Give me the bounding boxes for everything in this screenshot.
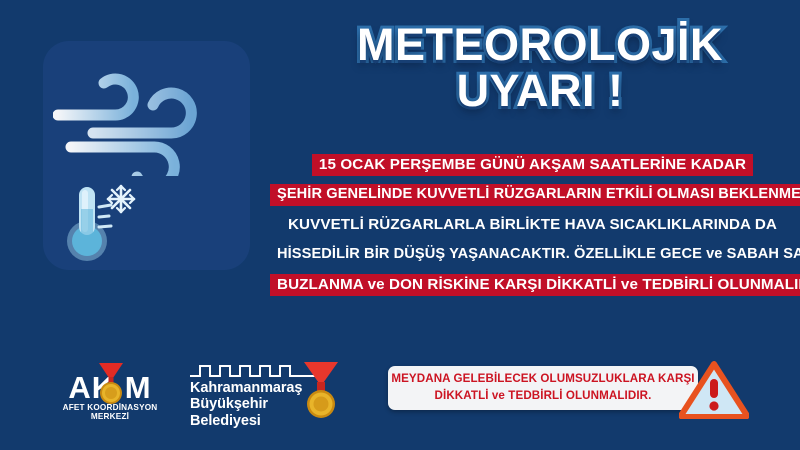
kahramanmaras-medal-icon [300, 360, 342, 418]
page-title: METEOROLOJİK UYARI ! [290, 22, 790, 114]
akom-medal-icon [96, 363, 126, 405]
thermometer-ticks [99, 205, 111, 227]
wind-icon [53, 51, 243, 176]
akom-subtitle: AFET KOORDİNASYON MERKEZİ [46, 403, 174, 421]
warning-line-1: MEYDANA GELEBİLECEK OLUMSUZLUKLARA KARŞI [391, 371, 694, 388]
advisory-message: 15 OCAK PERŞEMBE GÜNÜ AKŞAM SAATLERİNE K… [270, 150, 795, 300]
weather-icon-panel [43, 41, 250, 270]
message-line: HİSSEDİLİR BİR DÜŞÜŞ YAŞANACAKTIR. ÖZELL… [270, 240, 795, 270]
bottom-warning-box: MEYDANA GELEBİLECEK OLUMSUZLUKLARA KARŞI… [388, 366, 698, 410]
message-line: KUVVETLİ RÜZGARLARLA BİRLİKTE HAVA SICAK… [270, 210, 795, 240]
akom-logo: AK M AFET KOORDİNASYON MERKEZİ [46, 362, 174, 414]
title-line-1: METEOROLOJİK [357, 19, 723, 70]
kahramanmaras-logo: Kahramanmaraş Büyükşehir Belediyesi [190, 360, 340, 430]
title-line-2: UYARI ! [290, 68, 790, 114]
message-line: BUZLANMA ve DON RİSKİNE KARŞI DİKKATLİ v… [270, 270, 795, 300]
warning-triangle-icon [679, 361, 749, 419]
message-line: 15 OCAK PERŞEMBE GÜNÜ AKŞAM SAATLERİNE K… [270, 150, 795, 180]
message-line: ŞEHİR GENELİNDE KUVVETLİ RÜZGARLARIN ETK… [270, 180, 795, 210]
snowflake-icon [108, 186, 134, 212]
kahramanmaras-line-1: Kahramanmaraş [190, 380, 302, 397]
bottom-warning-text: MEYDANA GELEBİLECEK OLUMSUZLUKLARA KARŞI… [391, 371, 694, 405]
warning-line-2: DİKKATLİ ve TEDBİRLİ OLUNMALIDIR. [391, 388, 694, 405]
thermometer-body [67, 187, 107, 261]
thermometer-icon [61, 179, 149, 263]
